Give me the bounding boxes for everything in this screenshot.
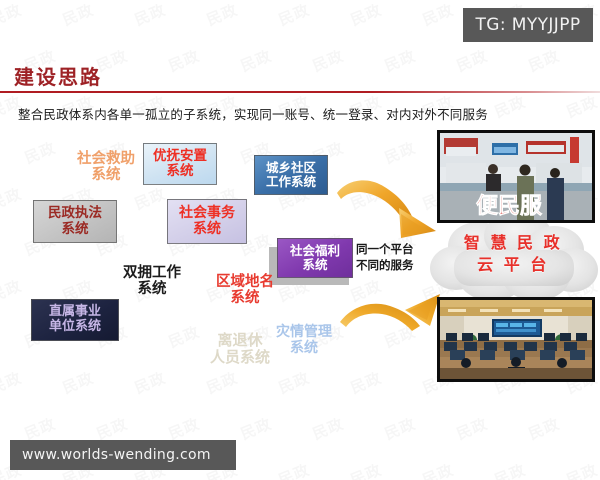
slide-canvas: 民政民政民政民政民政民政民政民政民政民政民政民政民政民政民政民政民政民政民政民政… <box>0 0 600 480</box>
system-node-urban-rural-community[interactable]: 城乡社区 工作系统 <box>254 155 328 195</box>
tg-channel-badge: TG: MYYJJPP <box>463 8 593 42</box>
system-node-regional-place-names[interactable]: 区域地名 系统 <box>198 268 292 312</box>
page-subtitle: 整合民政体系内各单一孤立的子系统，实现同一账号、统一登录、对内对外不同服务 <box>18 104 488 123</box>
arrow-lower <box>340 294 440 331</box>
arrow-upper <box>337 180 436 238</box>
photo-control-center <box>437 297 595 382</box>
title-underline <box>0 91 600 93</box>
system-node-social-affairs[interactable]: 社会事务 系统 <box>167 199 247 244</box>
system-node-direct-institutions[interactable]: 直属事业 单位系统 <box>31 299 119 341</box>
tg-channel-label: TG: MYYJJPP <box>475 15 580 35</box>
page-title: 建设思路 <box>14 66 600 88</box>
title-block: 建设思路 <box>0 66 600 93</box>
footer-url-label: www.worlds-wending.com <box>22 447 211 463</box>
system-node-double-support[interactable]: 双拥工作 系统 <box>104 259 200 303</box>
system-node-civil-affairs-enforcement[interactable]: 民政执法 系统 <box>33 200 117 243</box>
cloud-platform-label: 智 慧 民 政 云 平 台 <box>426 232 600 275</box>
system-node-preferential-placement[interactable]: 优抚安置 系统 <box>143 143 217 185</box>
system-node-disaster-management[interactable]: 灾情管理 系统 <box>258 320 350 362</box>
system-node-social-assistance[interactable]: 社会救助 系统 <box>58 145 154 189</box>
footer-url-bar: www.worlds-wending.com <box>10 440 236 470</box>
platform-caption: 同一个平台 不同的服务 <box>356 242 414 273</box>
photo-service-hall: 便民服 <box>437 130 595 223</box>
svg-text:便民服: 便民服 <box>476 194 543 219</box>
